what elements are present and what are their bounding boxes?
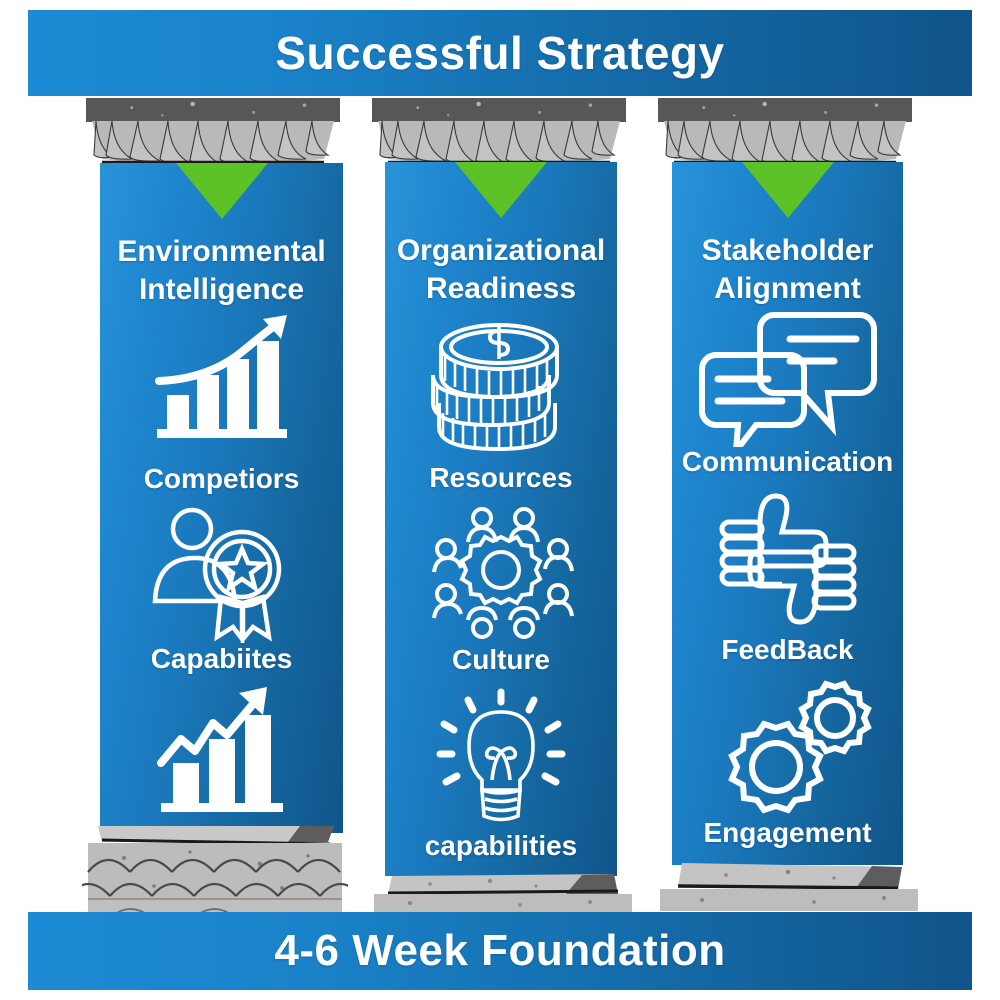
- abacus-slab: [658, 98, 912, 122]
- pillar-2-capital: [372, 98, 626, 170]
- pillar-3-base: [656, 861, 922, 913]
- abacus-slab: [86, 98, 340, 122]
- green-wedge-icon: [176, 163, 268, 219]
- pillar-3-shaft[interactable]: Stakeholder Alignment Communication: [672, 162, 903, 865]
- column-2-title: Organizational Readiness: [385, 232, 617, 309]
- coin-stack-dollar-icon: [385, 317, 617, 457]
- page-title: Successful Strategy: [275, 26, 724, 80]
- item-label-competiors: Competiors: [100, 463, 343, 495]
- base-slabs-icon: [370, 872, 636, 916]
- item-label-resources: Resources: [385, 462, 617, 494]
- green-wedge-icon: [742, 162, 834, 218]
- person-award-badge-icon: [100, 503, 343, 643]
- gear-people-network-icon: [385, 502, 617, 647]
- pillar-2-base: [370, 872, 636, 916]
- base-scallop-pattern-icon: [82, 826, 348, 916]
- footer-banner: 4-6 Week Foundation: [28, 912, 972, 990]
- column-1-title: Environmental Intelligence: [100, 233, 343, 310]
- speech-bubbles-icon: [672, 307, 903, 447]
- infographic-canvas: Successful Strategy Environmenta: [0, 0, 1000, 1000]
- column-3-title: Stakeholder Alignment: [672, 232, 903, 309]
- green-wedge-icon: [455, 162, 547, 218]
- lightbulb-idea-icon: [385, 682, 617, 832]
- item-label-communication: Communication: [672, 446, 903, 478]
- pillar-1-base: [82, 826, 348, 916]
- abacus-slab: [372, 98, 626, 122]
- pillar-1-capital: [86, 98, 340, 170]
- pillar-2-shaft[interactable]: Organizational Readiness: [385, 162, 617, 876]
- thumbs-up-down-icon: [672, 484, 903, 634]
- bar-chart-zigzag-arrow-icon: [100, 683, 343, 823]
- item-label-feedback: FeedBack: [672, 634, 903, 666]
- base-slabs-icon: [656, 861, 922, 913]
- item-label-capabiites: Capabiites: [100, 643, 343, 675]
- bar-chart-growth-icon: [100, 313, 343, 443]
- pillar-1-shaft[interactable]: Environmental Intelligence Competiors: [100, 163, 343, 833]
- item-label-capabilities: capabilities: [385, 830, 617, 862]
- two-gears-icon: [672, 674, 903, 824]
- header-banner: Successful Strategy: [28, 10, 972, 96]
- pillar-3-capital: [658, 98, 912, 170]
- footer-title: 4-6 Week Foundation: [274, 926, 725, 976]
- item-label-engagement: Engagement: [672, 817, 903, 849]
- item-label-culture: Culture: [385, 644, 617, 676]
